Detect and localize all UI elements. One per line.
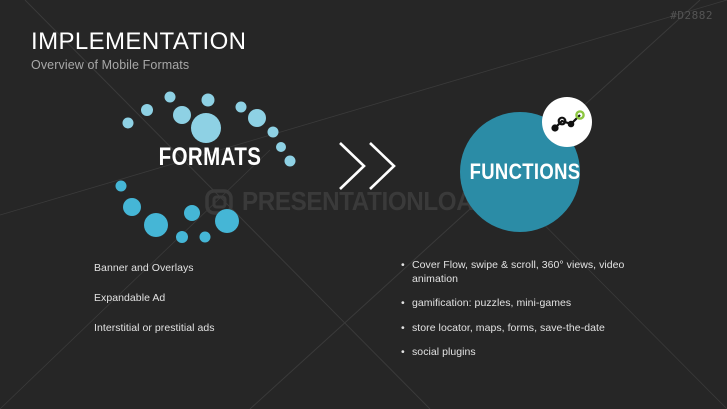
list-item: • Cover Flow, swipe & scroll, 360° views… (401, 258, 671, 286)
double-chevron-right-icon (336, 140, 406, 197)
functions-list: • Cover Flow, swipe & scroll, 360° views… (401, 258, 671, 369)
bullet-marker: • (401, 321, 405, 335)
formats-list: Banner and Overlays Expandable Ad Inters… (94, 262, 344, 352)
functions-label: FUNCTIONS (470, 159, 571, 185)
line-chart-nodes-icon (542, 97, 592, 147)
bullet-marker: • (401, 296, 405, 310)
list-item: Banner and Overlays (94, 262, 344, 274)
functions-diagram: FUNCTIONS (455, 88, 605, 238)
bullet-marker: • (401, 345, 405, 359)
list-item: • gamification: puzzles, mini-games (401, 296, 671, 310)
bullet-marker: • (401, 258, 405, 272)
functions-badge (542, 97, 592, 147)
slide-canvas: #D2882 IMPLEMENTATION Overview of Mobile… (0, 0, 727, 409)
list-item-label: social plugins (412, 346, 476, 358)
list-item-label: gamification: puzzles, mini-games (412, 297, 571, 309)
list-item: Interstitial or prestitial ads (94, 322, 344, 334)
page-title: IMPLEMENTATION (31, 29, 246, 54)
list-item: Expandable Ad (94, 292, 344, 304)
list-item: • store locator, maps, forms, save-the-d… (401, 321, 671, 335)
formats-diagram: FORMATS (110, 85, 310, 245)
formats-dots-dark (116, 181, 240, 244)
list-item-label: Cover Flow, swipe & scroll, 360° views, … (412, 259, 624, 285)
slide-header: IMPLEMENTATION Overview of Mobile Format… (31, 29, 246, 72)
slide-id-label: #D2882 (670, 9, 713, 22)
list-item: • social plugins (401, 345, 671, 359)
formats-label: FORMATS (128, 143, 292, 172)
page-subtitle: Overview of Mobile Formats (31, 58, 246, 72)
list-item-label: store locator, maps, forms, save-the-dat… (412, 322, 605, 334)
